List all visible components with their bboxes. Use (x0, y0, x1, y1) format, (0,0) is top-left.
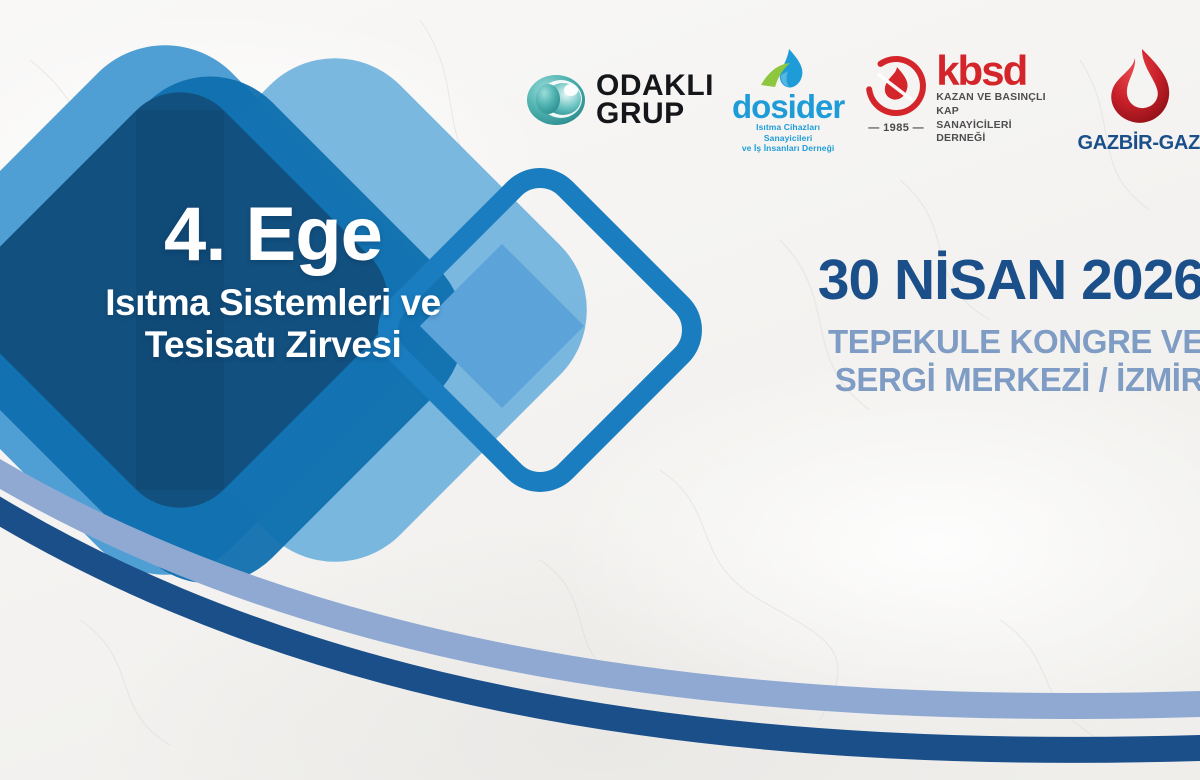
dosider-sub-line2: ve İş İnsanları Derneği (732, 143, 844, 153)
arc-band-periwinkle (0, 410, 1200, 706)
odakli-line2: GRUP (596, 100, 714, 128)
kbsd-sub-line1: KAZAN VE BASINÇLI KAP (936, 91, 1059, 118)
gazbir-flame-icon (1095, 46, 1183, 130)
event-date: 30 NİSAN 2026 (784, 252, 1200, 309)
sponsor-logo-odakli[interactable]: ODAKLI GRUP (525, 72, 714, 128)
event-title-main: 4. Ege (58, 198, 488, 272)
sponsor-logo-gazbir[interactable]: GAZBİR-GAZ (1077, 46, 1200, 155)
dosider-flame-leaf-icon (759, 47, 817, 91)
bottom-arc-bands (0, 400, 1200, 780)
sponsor-logo-strip: ODAKLI GRUP dosider Isıtma Cihazları San… (525, 44, 1200, 156)
event-date-venue-block: 30 NİSAN 2026 TEPEKULE KONGRE VE SERGİ M… (784, 252, 1200, 398)
event-banner: 4. Ege Isıtma Sistemleri ve Tesisatı Zir… (0, 0, 1200, 780)
odakli-wordmark: ODAKLI GRUP (596, 72, 714, 127)
sponsor-logo-kbsd[interactable]: — 1985 — kbsd KAZAN VE BASINÇLI KAP SANA… (862, 54, 1059, 146)
event-title-line3: Tesisatı Zirvesi (58, 324, 488, 365)
dosider-wordmark: dosider (732, 92, 844, 122)
event-venue-line1: TEPEKULE KONGRE VE (784, 323, 1200, 361)
event-title-block: 4. Ege Isıtma Sistemleri ve Tesisatı Zir… (58, 198, 488, 365)
dosider-sub-line1: Isıtma Cihazları Sanayicileri (732, 122, 844, 143)
gazbir-wordmark: GAZBİR-GAZ (1077, 132, 1200, 155)
kbsd-sub-line2: SANAYİCİLERİ DERNEĞİ (936, 119, 1059, 146)
odakli-circle-mark-icon (525, 72, 587, 128)
kbsd-year: — 1985 — (868, 122, 924, 134)
kbsd-flame-circle-icon (862, 54, 930, 120)
kbsd-wordmark: kbsd (936, 54, 1059, 88)
event-venue-line2: SERGİ MERKEZİ / İZMİR (784, 361, 1200, 399)
sponsor-logo-dosider[interactable]: dosider Isıtma Cihazları Sanayicileri ve… (732, 47, 844, 154)
event-title-line2: Isıtma Sistemleri ve (58, 282, 488, 323)
